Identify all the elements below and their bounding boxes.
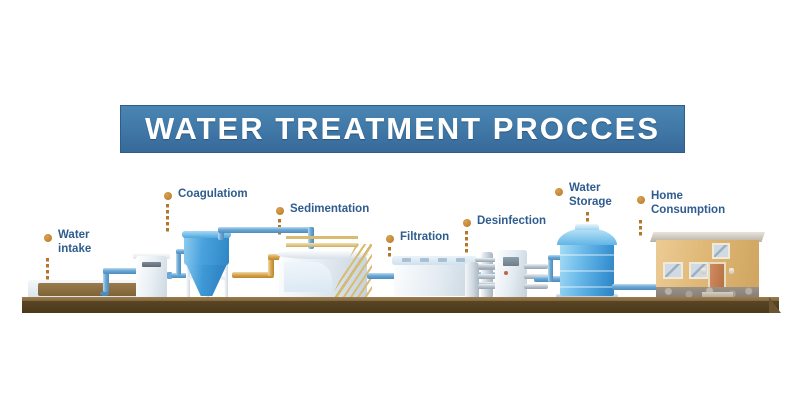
bullet-home-consumption — [637, 196, 645, 204]
filtration-manifold-1 — [475, 258, 497, 262]
bullet-disinfection — [463, 219, 471, 227]
house-sconce-left — [701, 268, 706, 274]
label-water-storage: Water Storage — [569, 182, 612, 209]
disinfection-display-screen — [503, 257, 519, 266]
disinfection-vessel — [465, 262, 479, 298]
bullet-water-intake — [44, 234, 52, 242]
page-title: WATER TREATMENT PROCCES — [145, 111, 660, 147]
coagulation-cone — [186, 264, 227, 296]
intake-water — [38, 283, 140, 296]
filtration-basin — [394, 262, 475, 296]
ground-strip — [22, 301, 779, 313]
leader-home-consumption — [639, 220, 642, 238]
storage-tank-dome — [557, 228, 617, 245]
sedimentation-outlet-pipe — [367, 273, 397, 279]
bullet-water-storage — [555, 188, 563, 196]
title-banner: WATER TREATMENT PROCCES — [120, 105, 685, 153]
house-window-left — [663, 262, 683, 279]
sedimentation-handrail — [286, 236, 358, 239]
filtration-slot-2 — [420, 258, 429, 262]
filtration-slot-1 — [402, 258, 411, 262]
house-sconce-right — [729, 268, 734, 274]
leader-coagulation — [166, 204, 169, 232]
filtration-slot-3 — [438, 258, 447, 262]
sedimentation-water — [284, 262, 332, 292]
storage-tank-hatch — [575, 224, 599, 230]
leader-disinfection — [465, 231, 468, 253]
coagulation-inlet-riser — [176, 251, 181, 275]
house-window-middle — [689, 262, 709, 279]
disinfection-pipe-6 — [524, 284, 548, 289]
sedimentation-walkway — [286, 243, 358, 247]
storage-tank-band-2 — [560, 270, 614, 272]
label-home-consumption: Home Consumption — [651, 190, 725, 217]
storage-tank-band-3 — [560, 286, 614, 288]
disinfection-pipe-4 — [524, 264, 548, 269]
filtration-slot-4 — [456, 258, 465, 262]
bullet-sedimentation — [276, 207, 284, 215]
house-window-upper — [712, 243, 730, 259]
label-disinfection: Desinfection — [477, 215, 546, 229]
bullet-filtration — [386, 235, 394, 243]
infographic-canvas: WATER TREATMENT PROCCES Water intake Coa… — [0, 0, 800, 419]
bullet-coagulation — [164, 192, 172, 200]
disinfection-indicator-light — [504, 271, 508, 275]
label-coagulation: Coagulatiom — [178, 188, 248, 202]
label-water-intake: Water intake — [58, 229, 91, 256]
label-sedimentation: Sedimentation — [290, 203, 369, 217]
leader-filtration — [388, 247, 391, 257]
coagulation-to-sedimentation-pipe — [218, 227, 314, 233]
pump-house-vent — [142, 262, 161, 267]
label-filtration: Filtration — [400, 231, 449, 245]
storage-tank-band-1 — [560, 254, 614, 256]
storage-outlet-pipe — [612, 284, 658, 290]
